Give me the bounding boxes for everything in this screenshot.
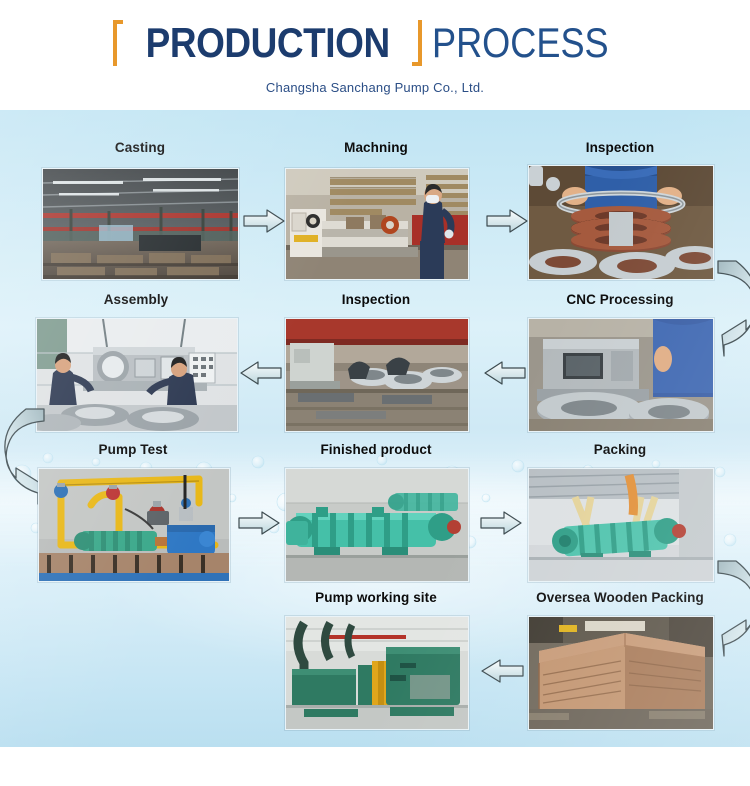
step-label-casting: Casting [42,140,238,155]
step-photo-machining [285,168,469,280]
page-header: PRODUCTION PROCESS Changsha Sanchang Pum… [0,0,750,110]
step-photo-finished-product [285,468,469,582]
process-flow-panel: Casting [0,110,750,747]
step-label-inspection-2: Inspection [285,292,467,307]
step-photo-pump-working-site [285,616,469,730]
title-process: PROCESS [432,20,609,66]
step-photo-oversea-wooden-packing [528,616,714,730]
bracket-left-icon [113,20,123,66]
step-photo-cnc [528,318,714,432]
step-photo-inspection-1 [528,165,714,280]
page-title: PRODUCTION PROCESS [113,16,638,70]
step-photo-inspection-2 [285,318,469,432]
page-footer-space [0,747,750,786]
step-label-pump-test: Pump Test [38,442,228,457]
step-photo-pump-test [38,468,230,582]
step-label-finished-product: Finished product [285,442,467,457]
step-photo-casting [42,168,239,280]
step-label-pump-working-site: Pump working site [285,590,467,605]
bracket-right-icon [412,20,422,66]
arrow-wooden-to-workingsite [476,658,524,689]
arrow-inspection2-to-assembly [236,360,282,391]
step-label-inspection-1: Inspection [528,140,712,155]
title-production: PRODUCTION [145,20,389,66]
step-photo-packing [528,468,714,582]
company-subtitle: Changsha Sanchang Pump Co., Ltd. [266,80,484,95]
step-photo-assembly [36,318,238,432]
arrow-finished-to-packing [480,510,524,541]
step-label-assembly: Assembly [36,292,236,307]
step-label-oversea-wooden-packing: Oversea Wooden Packing [528,590,712,605]
step-label-cnc: CNC Processing [528,292,712,307]
arrow-pumptest-to-finished [238,510,282,541]
arrow-cnc-to-inspection2 [480,360,526,391]
step-label-packing: Packing [528,442,712,457]
arrow-machining-to-inspection [486,208,528,239]
step-label-machining: Machning [285,140,467,155]
arrow-casting-to-machining [243,208,285,239]
